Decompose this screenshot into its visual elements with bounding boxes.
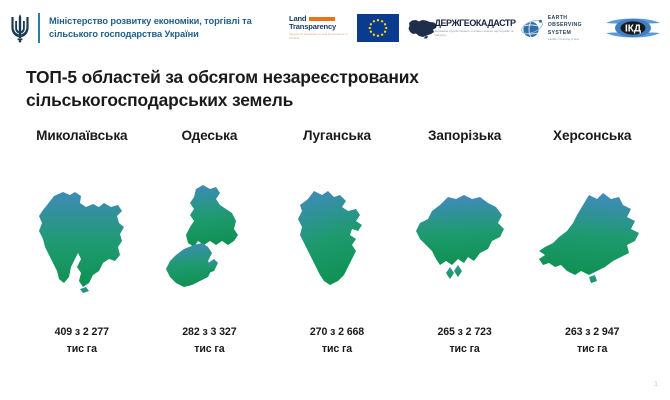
region-stat-unit: тис га xyxy=(437,341,491,358)
region-map-wrap xyxy=(21,168,143,318)
region-stat-unit: тис га xyxy=(565,341,619,358)
logo-land-transparency: Land Transparency Support to Transparent… xyxy=(289,15,351,41)
region-column-luhansk: Луганська 270 з 2 668 тис га xyxy=(273,128,401,358)
region-stat-value: 270 з 2 668 xyxy=(310,324,364,341)
region-name: Луганська xyxy=(303,128,371,150)
region-stat-value: 263 з 2 947 xyxy=(565,324,619,341)
eos-line-earth: EARTH xyxy=(548,15,582,23)
logo-ikd: ІКД xyxy=(604,11,662,45)
region-map-wrap xyxy=(404,168,526,318)
region-column-odesa: Одеська 282 з 3 327 xyxy=(146,128,274,358)
ukraine-trident-emblem-icon xyxy=(8,12,32,44)
region-stat: 270 з 2 668 тис га xyxy=(310,324,364,358)
mykolaiv-oblast-map-icon xyxy=(23,183,141,303)
derzhgeokadastr-subtitle: Державна служба України з питань геодезі… xyxy=(435,30,516,38)
region-column-mykolaiv: Миколаївська 409 з 2 277 тис г xyxy=(18,128,146,358)
region-stat-unit: тис га xyxy=(310,341,364,358)
region-name: Херсонська xyxy=(553,128,631,150)
eos-line-system: SYSTEM xyxy=(548,30,582,38)
region-name: Миколаївська xyxy=(36,128,127,150)
region-stat: 265 з 2 723 тис га xyxy=(437,324,491,358)
region-stat-unit: тис га xyxy=(182,341,236,358)
header-divider xyxy=(38,13,40,43)
region-stat: 263 з 2 947 тис га xyxy=(565,324,619,358)
ikd-title: ІКД xyxy=(625,23,641,34)
land-transparency-word-transparency: Transparency xyxy=(289,23,351,31)
region-name: Запорізька xyxy=(428,128,501,150)
logo-derzhgeokadastr: ДЕРЖГЕОКАДАСТР Державна служба України з… xyxy=(406,16,514,40)
luhansk-oblast-map-icon xyxy=(278,183,396,303)
logo-european-union xyxy=(357,14,399,42)
partner-logos: Land Transparency Support to Transparent… xyxy=(267,11,664,45)
zaporizhzhia-oblast-map-icon xyxy=(406,183,524,303)
eos-line-observing: OBSERVING xyxy=(548,22,582,30)
odesa-oblast-map-icon xyxy=(150,183,268,303)
region-map-wrap xyxy=(148,168,270,318)
page-title: ТОП-5 областей за обсягом незареєстрован… xyxy=(26,66,546,112)
region-stat-value: 409 з 2 277 xyxy=(55,324,109,341)
land-transparency-bar-icon xyxy=(309,17,335,21)
region-stat: 282 з 3 327 тис га xyxy=(182,324,236,358)
ministry-branding: Міністерство розвитку економіки, торгівл… xyxy=(8,12,267,44)
region-stat-value: 282 з 3 327 xyxy=(182,324,236,341)
globe-satellite-icon xyxy=(520,16,544,40)
region-name: Одеська xyxy=(181,128,237,150)
region-stat-unit: тис га xyxy=(55,341,109,358)
slide-header: Міністерство розвитку економіки, торгівл… xyxy=(0,0,670,56)
regions-row: Миколаївська 409 з 2 277 тис г xyxy=(18,128,656,368)
region-map-wrap xyxy=(531,168,653,318)
land-transparency-tagline: Support to Transparent Land Governance i… xyxy=(289,33,351,41)
derzhgeokadastr-title: ДЕРЖГЕОКАДАСТР xyxy=(435,19,516,28)
region-map-wrap xyxy=(276,168,398,318)
eos-subtitle: satellite monitoring of land xyxy=(548,38,582,41)
slide-root: Міністерство розвитку економіки, торгівл… xyxy=(0,0,670,400)
region-stat-value: 265 з 2 723 xyxy=(437,324,491,341)
logo-earth-observing-system: EARTH OBSERVING SYSTEM satellite monitor… xyxy=(520,15,598,42)
region-stat: 409 з 2 277 тис га xyxy=(55,324,109,358)
eu-flag-icon xyxy=(357,14,399,42)
ikd-swoosh-icon: ІКД xyxy=(604,11,662,45)
region-column-kherson: Херсонська 263 з 2 947 тис га xyxy=(528,128,656,358)
region-column-zaporizhzhia: Запорізька 265 з 2 723 xyxy=(401,128,529,358)
page-number: 1 xyxy=(654,381,658,388)
ministry-name: Міністерство розвитку економіки, торгівл… xyxy=(49,15,267,41)
kherson-oblast-map-icon xyxy=(531,183,653,303)
